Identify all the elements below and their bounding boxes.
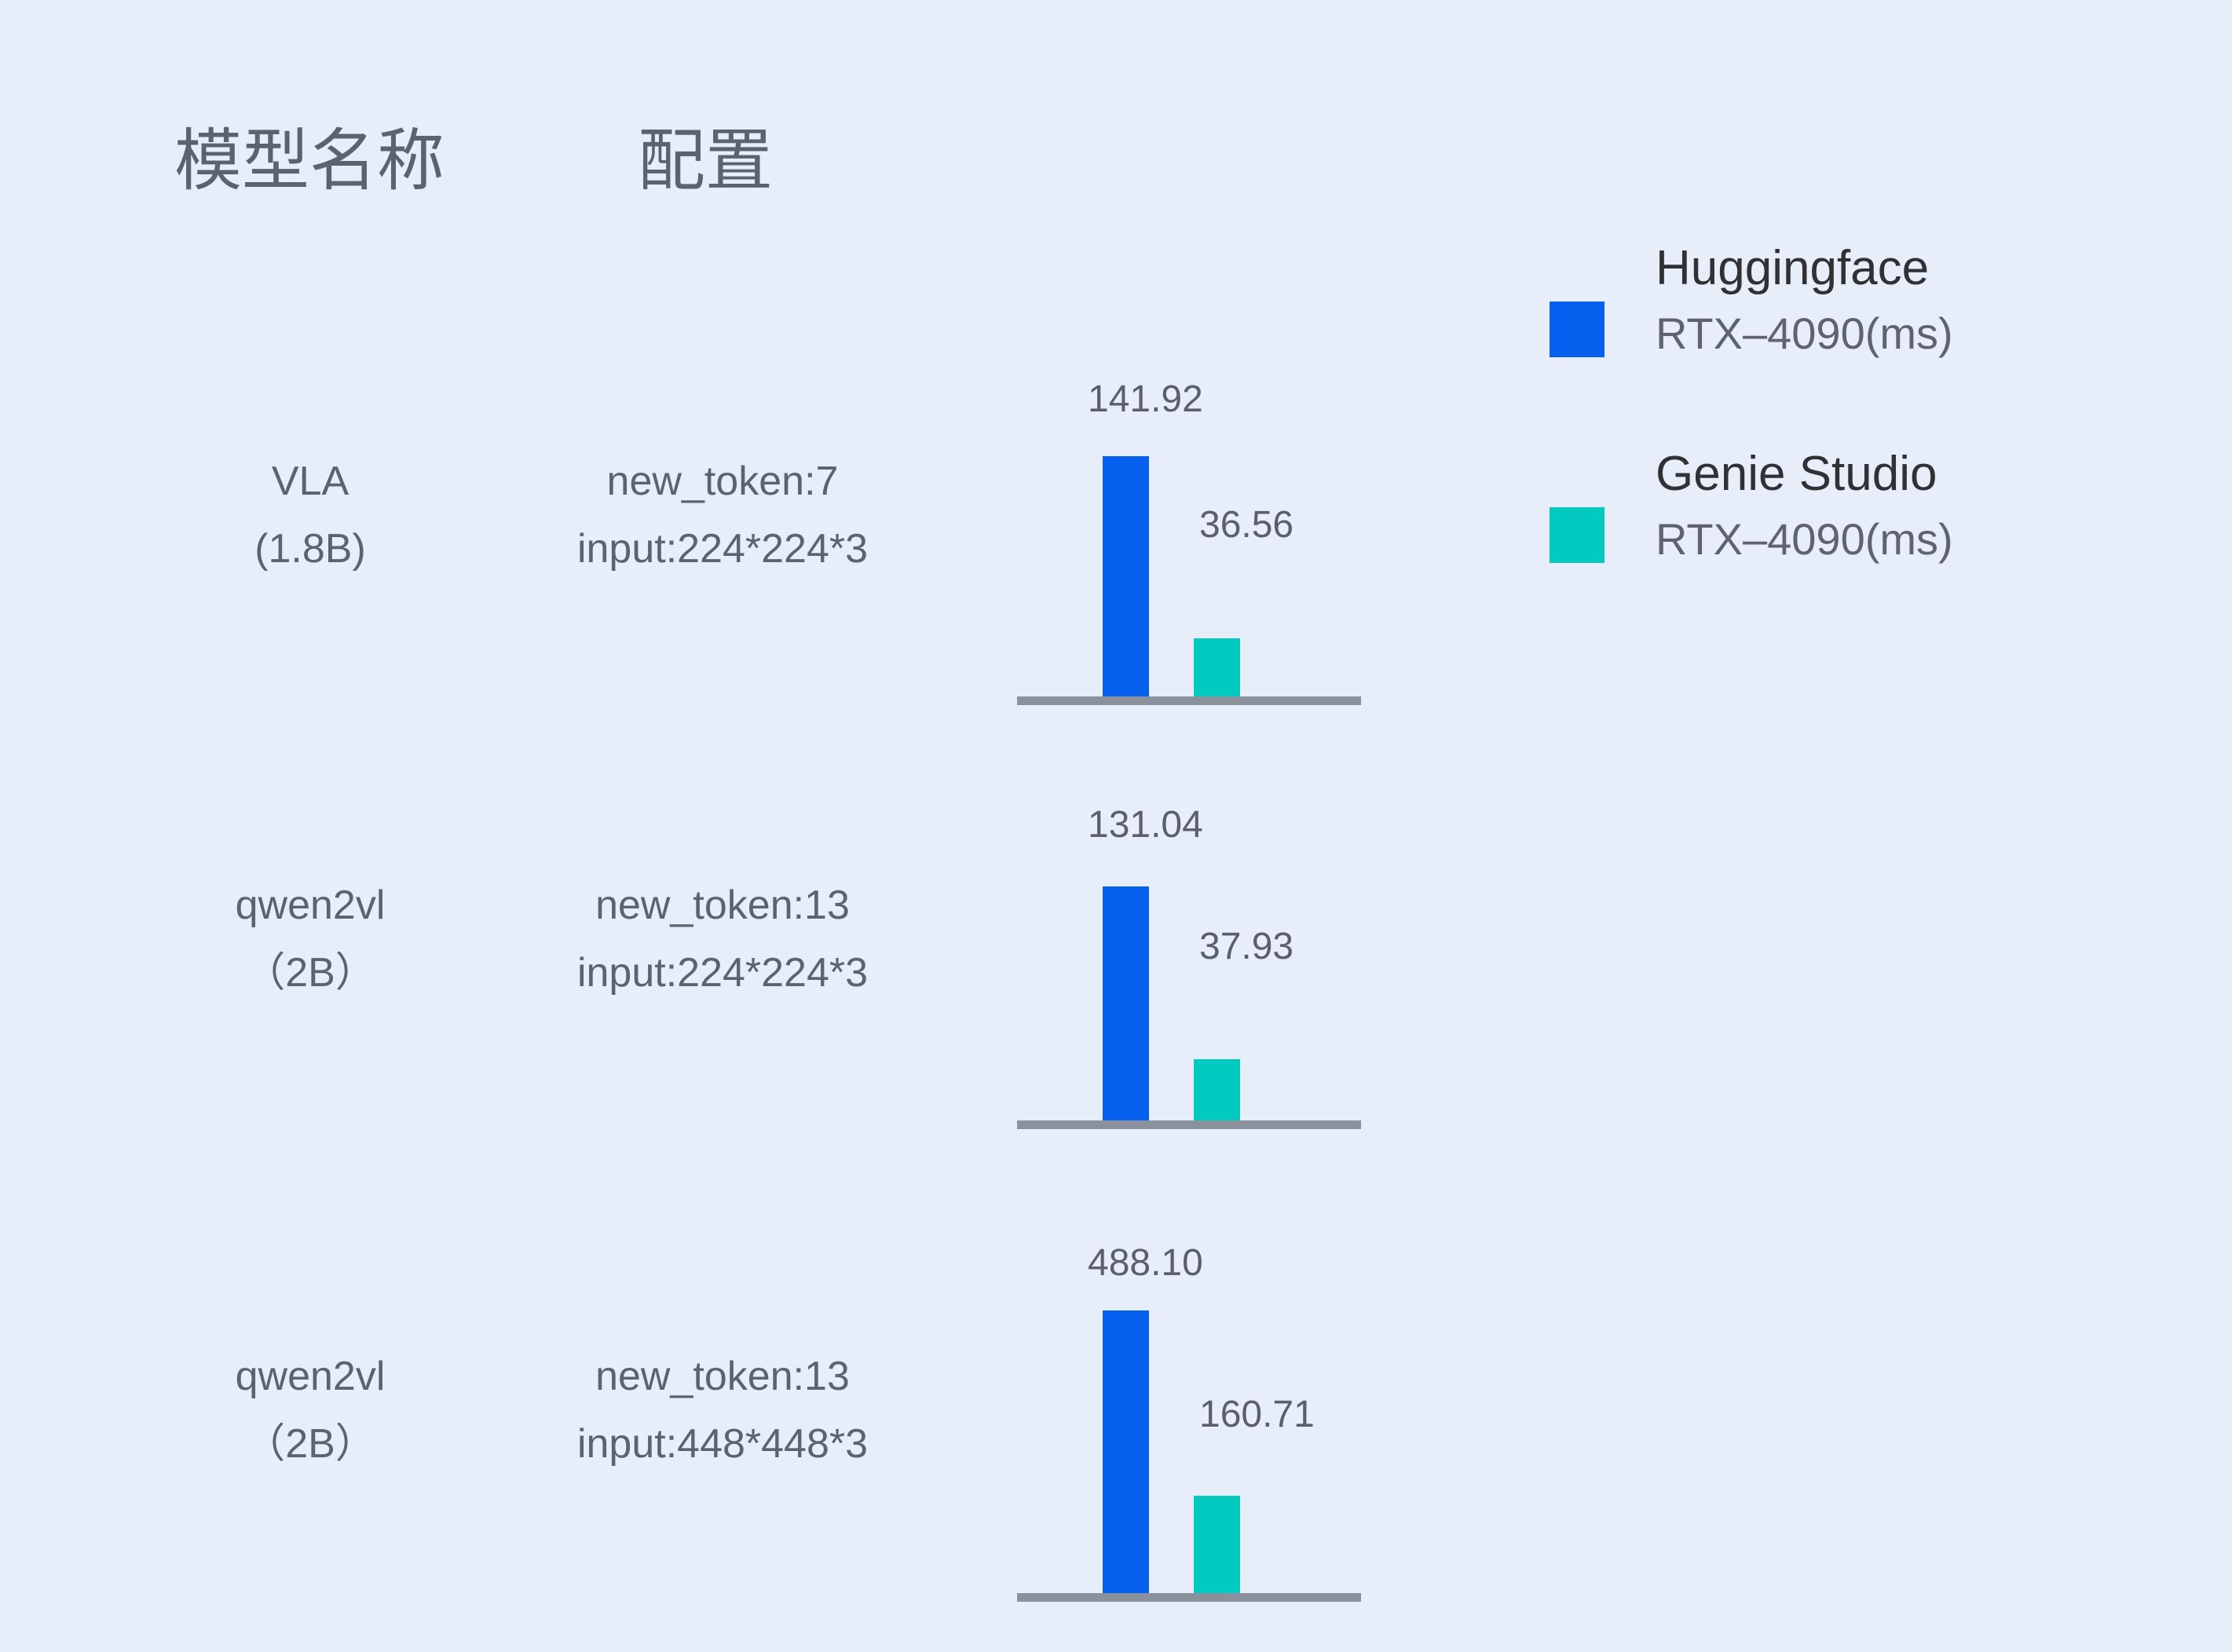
bar-huggingface — [1103, 1310, 1149, 1599]
bar-genie-studio — [1194, 1496, 1240, 1595]
config-line2: input:448*448*3 — [479, 1410, 966, 1478]
model-name-cell: qwen2vl （2B） — [141, 1343, 479, 1478]
table-row: qwen2vl （2B） new_token:13 input:448*448*… — [0, 1099, 2232, 1523]
model-name-line2: （2B） — [141, 939, 479, 1007]
legend-text-block: Genie Studio RTX–4090(ms) — [1656, 441, 2158, 572]
bar-huggingface — [1103, 886, 1149, 1122]
legend-item-huggingface: Huggingface RTX–4090(ms) — [1539, 236, 2168, 393]
bar-value-label-genie-studio: 36.56 — [1199, 506, 1293, 544]
bar-chart-panel: 488.10 160.71 — [1017, 1209, 1363, 1602]
table-row: qwen2vl （2B） new_token:13 input:224*224*… — [0, 660, 2232, 1084]
config-cell: new_token:13 input:224*224*3 — [479, 872, 966, 1007]
legend-text-block: Huggingface RTX–4090(ms) — [1656, 236, 2158, 366]
legend-label: Huggingface — [1656, 236, 2158, 302]
legend-item-genie-studio: Genie Studio RTX–4090(ms) — [1539, 441, 2168, 598]
bar-value-label-huggingface: 488.10 — [1088, 1244, 1203, 1282]
legend-square-icon — [1550, 507, 1604, 563]
config-cell: new_token:13 input:448*448*3 — [479, 1343, 966, 1478]
config-line1: new_token:13 — [479, 1343, 966, 1410]
config-line1: new_token:13 — [479, 872, 966, 939]
bar-chart-panel: 131.04 37.93 — [1017, 769, 1363, 1129]
chart-baseline — [1017, 1593, 1361, 1602]
config-cell: new_token:7 input:224*224*3 — [479, 448, 966, 583]
model-name-line1: VLA — [141, 448, 479, 515]
model-name-cell: VLA (1.8B) — [141, 448, 479, 583]
model-name-line2: (1.8B) — [141, 515, 479, 583]
bar-chart-panel: 141.92 36.56 — [1017, 345, 1363, 705]
model-name-line1: qwen2vl — [141, 872, 479, 939]
legend-label: Genie Studio — [1656, 441, 2158, 507]
bar-value-label-huggingface: 141.92 — [1088, 381, 1203, 418]
bar-value-label-genie-studio: 160.71 — [1199, 1396, 1315, 1434]
model-name-line1: qwen2vl — [141, 1343, 479, 1410]
legend-square-icon — [1550, 302, 1604, 357]
model-name-line2: （2B） — [141, 1410, 479, 1478]
bar-value-label-genie-studio: 37.93 — [1199, 928, 1293, 966]
chart-legend: Huggingface RTX–4090(ms) Genie Studio RT… — [1539, 236, 2168, 581]
legend-sub-label: RTX–4090(ms) — [1656, 302, 2158, 366]
legend-sub-label: RTX–4090(ms) — [1656, 507, 2158, 572]
config-line1: new_token:7 — [479, 448, 966, 515]
config-line2: input:224*224*3 — [479, 515, 966, 583]
model-name-cell: qwen2vl （2B） — [141, 872, 479, 1007]
bar-value-label-huggingface: 131.04 — [1088, 806, 1203, 844]
config-line2: input:224*224*3 — [479, 939, 966, 1007]
